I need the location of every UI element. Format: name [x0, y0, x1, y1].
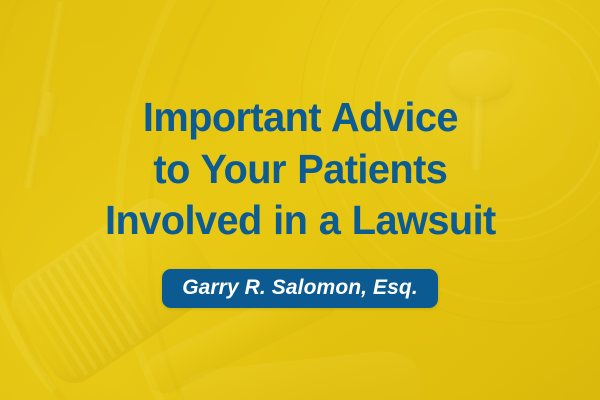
- promo-banner: Important Advice to Your Patients Involv…: [0, 0, 600, 400]
- headline-line-3: Involved in a Lawsuit: [105, 195, 496, 247]
- page-title: Important Advice to Your Patients Involv…: [93, 92, 507, 247]
- banner-content: Important Advice to Your Patients Involv…: [0, 0, 600, 400]
- headline-line-1: Important Advice: [105, 92, 496, 144]
- author-byline-badge: Garry R. Salomon, Esq.: [162, 269, 438, 308]
- headline-line-2: to Your Patients: [105, 144, 496, 196]
